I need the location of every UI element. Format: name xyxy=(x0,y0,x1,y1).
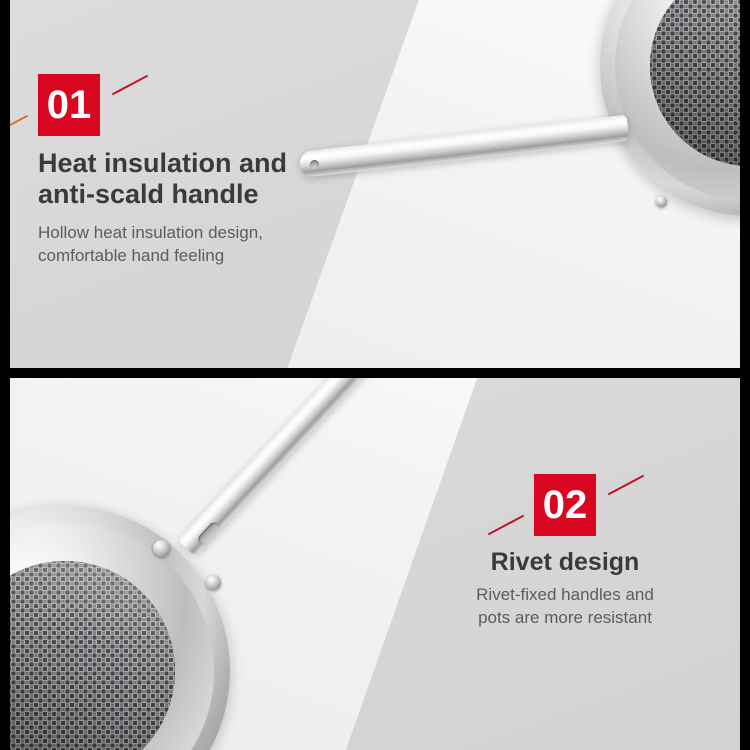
feature-title-02: Rivet design xyxy=(410,548,720,577)
feature-title-line-2: anti-scald handle xyxy=(38,179,259,209)
feature-subtitle-line-1: Rivet-fixed handles and xyxy=(476,585,654,604)
feature-subtitle-line-2: comfortable hand feeling xyxy=(38,246,224,265)
feature-subtitle-02: Rivet-fixed handles and pots are more re… xyxy=(410,583,720,630)
feature-subtitle-line-1: Hollow heat insulation design, xyxy=(38,223,263,242)
feature-title-line-1: Heat insulation and xyxy=(38,148,287,178)
decorative-dash-upper-icon xyxy=(608,475,644,496)
feature-subtitle-line-2: pots are more resistant xyxy=(478,608,652,627)
step-badge-01: 01 xyxy=(38,74,100,136)
decorative-dash-upper-icon xyxy=(112,75,148,96)
feature-subtitle-01: Hollow heat insulation design, comfortab… xyxy=(38,221,368,268)
feature-title-01: Heat insulation and anti-scald handle xyxy=(38,148,368,211)
feature-title-line-1: Rivet design xyxy=(491,548,640,576)
feature-panel-01: 01 Heat insulation and anti-scald handle… xyxy=(10,0,740,368)
decorative-dash-lower-icon xyxy=(488,515,524,536)
badge-row: 02 xyxy=(410,474,720,536)
feature-text-block-02: 02 Rivet design Rivet-fixed handles and … xyxy=(410,474,720,630)
feature-panel-02: 02 Rivet design Rivet-fixed handles and … xyxy=(10,378,740,750)
badge-row: 01 xyxy=(38,74,368,136)
step-badge-02: 02 xyxy=(534,474,596,536)
product-feature-infographic: 01 Heat insulation and anti-scald handle… xyxy=(0,0,750,750)
feature-text-block-01: 01 Heat insulation and anti-scald handle… xyxy=(38,74,368,268)
